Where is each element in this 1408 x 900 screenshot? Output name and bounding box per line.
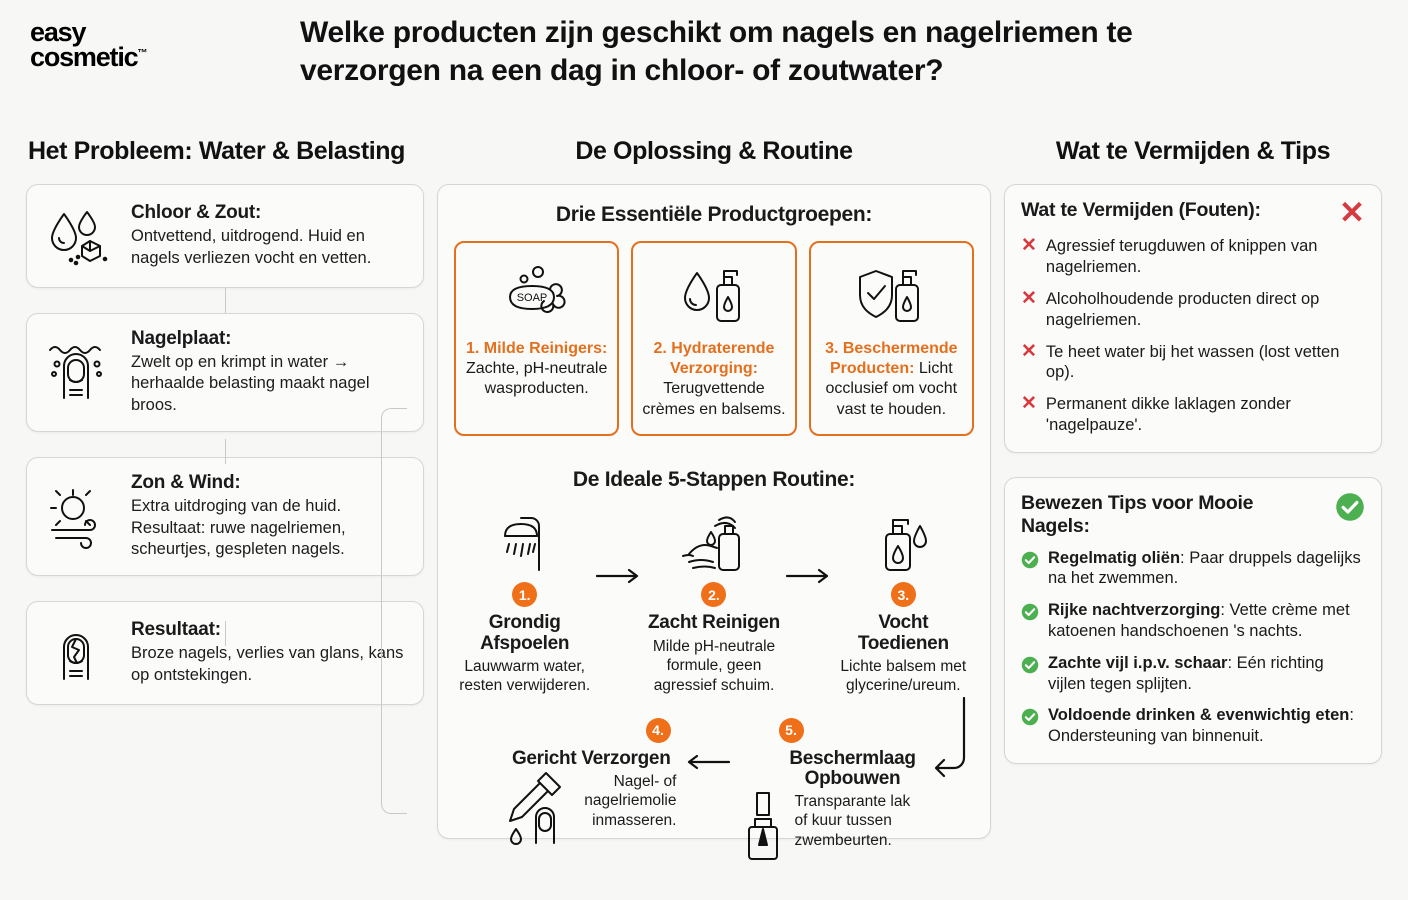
- step-name-4: Gericht Verzorgen: [512, 749, 671, 769]
- check-icon: [1021, 603, 1039, 621]
- avoid-item: ✕ Agressief terugduwen of knippen van na…: [1021, 236, 1365, 278]
- routine-step-1-head: 1. Grondig Afspoelen: [454, 582, 595, 653]
- connector-line-1: [225, 288, 226, 313]
- problem-title: Nagelplaat:: [131, 328, 407, 350]
- dropper-nail-icon: [502, 769, 574, 847]
- problem-card-nagelplaat: Nagelplaat: Zwelt op en krimpt in water …: [26, 313, 424, 432]
- problem-desc: Broze nagels, verlies van glans, kans op…: [131, 643, 407, 687]
- column-solution-heading: De Oplossing & Routine: [437, 138, 991, 166]
- product-groups: SOAP 1. Milde Reinigers: Zachte, pH-neut…: [454, 241, 974, 437]
- step-name-5: Beschermlaag Opbouwen: [779, 749, 927, 789]
- drop-pump-bottle-icon: [677, 255, 751, 333]
- step-badge-2: 2.: [701, 582, 726, 607]
- product-group-1-text: 1. Milde Reinigers: Zachte, pH-neutrale …: [464, 339, 609, 400]
- tip-item: Zachte vijl i.p.v. schaar: Eén richting …: [1021, 653, 1365, 695]
- sun-wind-icon: [39, 480, 117, 552]
- brand-logo: easy cosmetic™: [30, 14, 180, 70]
- x-icon: ✕: [1021, 394, 1037, 414]
- step-desc-4: Nagel- of nagelriemolie inmasseren.: [578, 772, 677, 831]
- problem-desc: Zwelt op en krimpt in water → herhaalde …: [131, 352, 407, 417]
- step-desc-3: Lichte balsem met glycerine/ureum.: [833, 657, 974, 696]
- big-check-icon: [1335, 492, 1365, 522]
- avoid-card: Wat te Vermijden (Fouten): ✕ ✕ Agressief…: [1004, 184, 1382, 453]
- wrap-arrow-icon: [930, 696, 976, 797]
- tips-title: Bewezen Tips voor Mooie Nagels:: [1021, 492, 1325, 538]
- tip-bold: Voldoende drinken & evenwichtig eten: [1048, 706, 1349, 724]
- problem-card-list: Chloor & Zout: Ontvettend, uitdrogend. H…: [26, 184, 424, 706]
- product-group-2-text: 2. Hydraterende Verzorging: Terugvettend…: [641, 339, 786, 421]
- avoid-item-text: Te heet water bij het wassen (lost vette…: [1046, 342, 1365, 384]
- arrow-right-icon-1: [595, 506, 643, 589]
- arrow-left-icon: [683, 714, 731, 775]
- routine-step-5: 5. Beschermlaag Opbouwen: [737, 714, 927, 865]
- problem-card-resultaat: Resultaat: Broze nagels, verlies van gla…: [26, 601, 424, 705]
- column-solution: De Oplossing & Routine Drie Essentiële P…: [424, 138, 1004, 898]
- brand-line2: cosmetic: [30, 42, 137, 72]
- hand-wash-icon: [643, 506, 784, 578]
- routine-step-3-head: 3. Vocht Toedienen: [833, 582, 974, 653]
- step-desc-5: Transparante lak of kuur tussen zwembeur…: [795, 792, 927, 851]
- routine-step-1: 1. Grondig Afspoelen Lauwwarm water, res…: [454, 506, 595, 695]
- tip-item-text: Zachte vijl i.p.v. schaar: Eén richting …: [1048, 653, 1365, 695]
- step-name-2: Zacht Reinigen: [648, 613, 780, 633]
- check-icon: [1021, 656, 1039, 674]
- product-group-3: 3. Beschermende Producten: Licht occlusi…: [809, 241, 974, 437]
- tip-item: Regelmatig oliën: Paar druppels dagelijk…: [1021, 548, 1365, 590]
- step-badge-1: 1.: [512, 582, 537, 607]
- problem-text-zon-wind: Zon & Wind: Extra uitdroging van de huid…: [131, 472, 407, 561]
- routine-step-2-head: 2. Zacht Reinigen: [643, 582, 784, 633]
- solution-card: Drie Essentiële Productgroepen: SOAP 1. …: [437, 184, 991, 839]
- step-name-3: Vocht Toedienen: [833, 613, 974, 653]
- page-title: Welke producten zijn geschikt om nagels …: [180, 14, 1384, 91]
- connector-bracket: [381, 408, 407, 814]
- shower-icon: [454, 506, 595, 578]
- routine-title: De Ideale 5-Stappen Routine:: [454, 468, 974, 492]
- connector-line-2: [225, 439, 226, 464]
- tip-item-text: Rijke nachtverzorging: Vette crème met k…: [1048, 600, 1365, 642]
- water-drops-salt-icon: [39, 200, 117, 272]
- problem-desc: Extra uitdroging van de huid. Resultaat:…: [131, 496, 407, 561]
- step-badge-3: 3.: [891, 582, 916, 607]
- column-tips: Wat te Vermijden & Tips Wat te Vermijden…: [1004, 138, 1382, 898]
- product-group-2: 2. Hydraterende Verzorging: Terugvettend…: [631, 241, 796, 437]
- step-desc-2: Milde pH-neutrale formule, geen agressie…: [643, 637, 784, 696]
- avoid-item-text: Permanent dikke laklagen zonder 'nagelpa…: [1046, 394, 1365, 436]
- tip-item-text: Regelmatig oliën: Paar druppels dagelijk…: [1048, 548, 1365, 590]
- arrow-right-icon-2: [785, 506, 833, 589]
- routine-step-5-head: 5. Beschermlaag Opbouwen: [737, 718, 927, 789]
- avoid-list: ✕ Agressief terugduwen of knippen van na…: [1021, 236, 1365, 435]
- routine-step-2: 2. Zacht Reinigen Milde pH-neutrale form…: [643, 506, 784, 695]
- problem-text-resultaat: Resultaat: Broze nagels, verlies van gla…: [131, 619, 407, 687]
- infographic-page: easy cosmetic™ Welke producten zijn gesc…: [0, 0, 1408, 900]
- tip-bold: Rijke nachtverzorging: [1048, 601, 1220, 619]
- avoid-card-head: Wat te Vermijden (Fouten): ✕: [1021, 199, 1365, 227]
- tip-bold: Regelmatig oliën: [1048, 549, 1180, 567]
- big-x-icon: ✕: [1339, 199, 1365, 227]
- tips-list: Regelmatig oliën: Paar druppels dagelijk…: [1021, 548, 1365, 747]
- product-group-1-label: 1. Milde Reinigers:: [466, 340, 607, 357]
- x-icon: ✕: [1021, 236, 1037, 256]
- routine-step-4: 4. Gericht Verzorgen: [502, 714, 677, 847]
- product-group-3-text: 3. Beschermende Producten: Licht occlusi…: [819, 339, 964, 421]
- problem-title: Chloor & Zout:: [131, 202, 407, 224]
- avoid-item: ✕ Te heet water bij het wassen (lost vet…: [1021, 342, 1365, 384]
- product-group-2-desc: Terugvettende crèmes en balsems.: [642, 380, 785, 417]
- tip-bold: Zachte vijl i.p.v. schaar: [1048, 654, 1227, 672]
- routine-steps-row-2: 4. Gericht Verzorgen: [454, 714, 974, 865]
- problem-text-chloor-zout: Chloor & Zout: Ontvettend, uitdrogend. H…: [131, 202, 407, 270]
- nail-polish-icon: [737, 789, 789, 865]
- problem-desc: Ontvettend, uitdrogend. Huid en nagels v…: [131, 226, 407, 270]
- column-tips-heading: Wat te Vermijden & Tips: [1004, 138, 1382, 166]
- product-group-1-desc: Zachte, pH-neutrale wasproducten.: [466, 360, 607, 397]
- routine-steps-row-1: 1. Grondig Afspoelen Lauwwarm water, res…: [454, 506, 974, 695]
- tip-item: Voldoende drinken & evenwichtig eten: On…: [1021, 705, 1365, 747]
- step-name-1: Grondig Afspoelen: [454, 613, 595, 653]
- step-desc-1: Lauwwarm water, resten verwijderen.: [454, 657, 595, 696]
- problem-title: Zon & Wind:: [131, 472, 407, 494]
- avoid-item-text: Agressief terugduwen of knippen van nage…: [1046, 236, 1365, 278]
- routine-step-3: 3. Vocht Toedienen Lichte balsem met gly…: [833, 506, 974, 695]
- product-group-1: SOAP 1. Milde Reinigers: Zachte, pH-neut…: [454, 241, 619, 437]
- column-problem: Het Probleem: Water & Belasting: [26, 138, 424, 898]
- problem-text-nagelplaat: Nagelplaat: Zwelt op en krimpt in water …: [131, 328, 407, 417]
- x-icon: ✕: [1021, 289, 1037, 309]
- check-icon: [1021, 551, 1039, 569]
- problem-title: Resultaat:: [131, 619, 407, 641]
- routine-step-4-head: 4. Gericht Verzorgen: [502, 718, 677, 769]
- check-icon: [1021, 708, 1039, 726]
- tips-card: Bewezen Tips voor Mooie Nagels: Regelmat…: [1004, 477, 1382, 764]
- trademark-symbol: ™: [137, 48, 147, 59]
- cracked-nail-icon: [39, 617, 117, 689]
- columns-container: Het Probleem: Water & Belasting: [0, 138, 1408, 898]
- tip-item-text: Voldoende drinken & evenwichtig eten: On…: [1048, 705, 1365, 747]
- problem-card-chloor-zout: Chloor & Zout: Ontvettend, uitdrogend. H…: [26, 184, 424, 288]
- avoid-item-text: Alcoholhoudende producten direct op nage…: [1046, 289, 1365, 331]
- product-group-2-label: 2. Hydraterende Verzorging:: [654, 340, 775, 377]
- avoid-title: Wat te Vermijden (Fouten):: [1021, 199, 1329, 222]
- connector-line-3: [225, 621, 226, 646]
- product-groups-title: Drie Essentiële Productgroepen:: [454, 203, 974, 227]
- soap-bar-icon: SOAP: [500, 255, 574, 333]
- avoid-item: ✕ Alcoholhoudende producten direct op na…: [1021, 289, 1365, 331]
- step-badge-5: 5.: [779, 718, 804, 743]
- lotion-drop-icon: [833, 506, 974, 578]
- step-badge-4: 4.: [646, 718, 671, 743]
- avoid-item: ✕ Permanent dikke laklagen zonder 'nagel…: [1021, 394, 1365, 436]
- column-problem-heading: Het Probleem: Water & Belasting: [26, 138, 424, 166]
- tip-item: Rijke nachtverzorging: Vette crème met k…: [1021, 600, 1365, 642]
- x-icon: ✕: [1021, 342, 1037, 362]
- problem-card-zon-wind: Zon & Wind: Extra uitdroging van de huid…: [26, 457, 424, 576]
- nail-in-water-icon: [39, 336, 117, 408]
- header: easy cosmetic™ Welke producten zijn gesc…: [0, 0, 1408, 91]
- shield-bottle-icon: [854, 255, 928, 333]
- tips-card-head: Bewezen Tips voor Mooie Nagels:: [1021, 492, 1365, 538]
